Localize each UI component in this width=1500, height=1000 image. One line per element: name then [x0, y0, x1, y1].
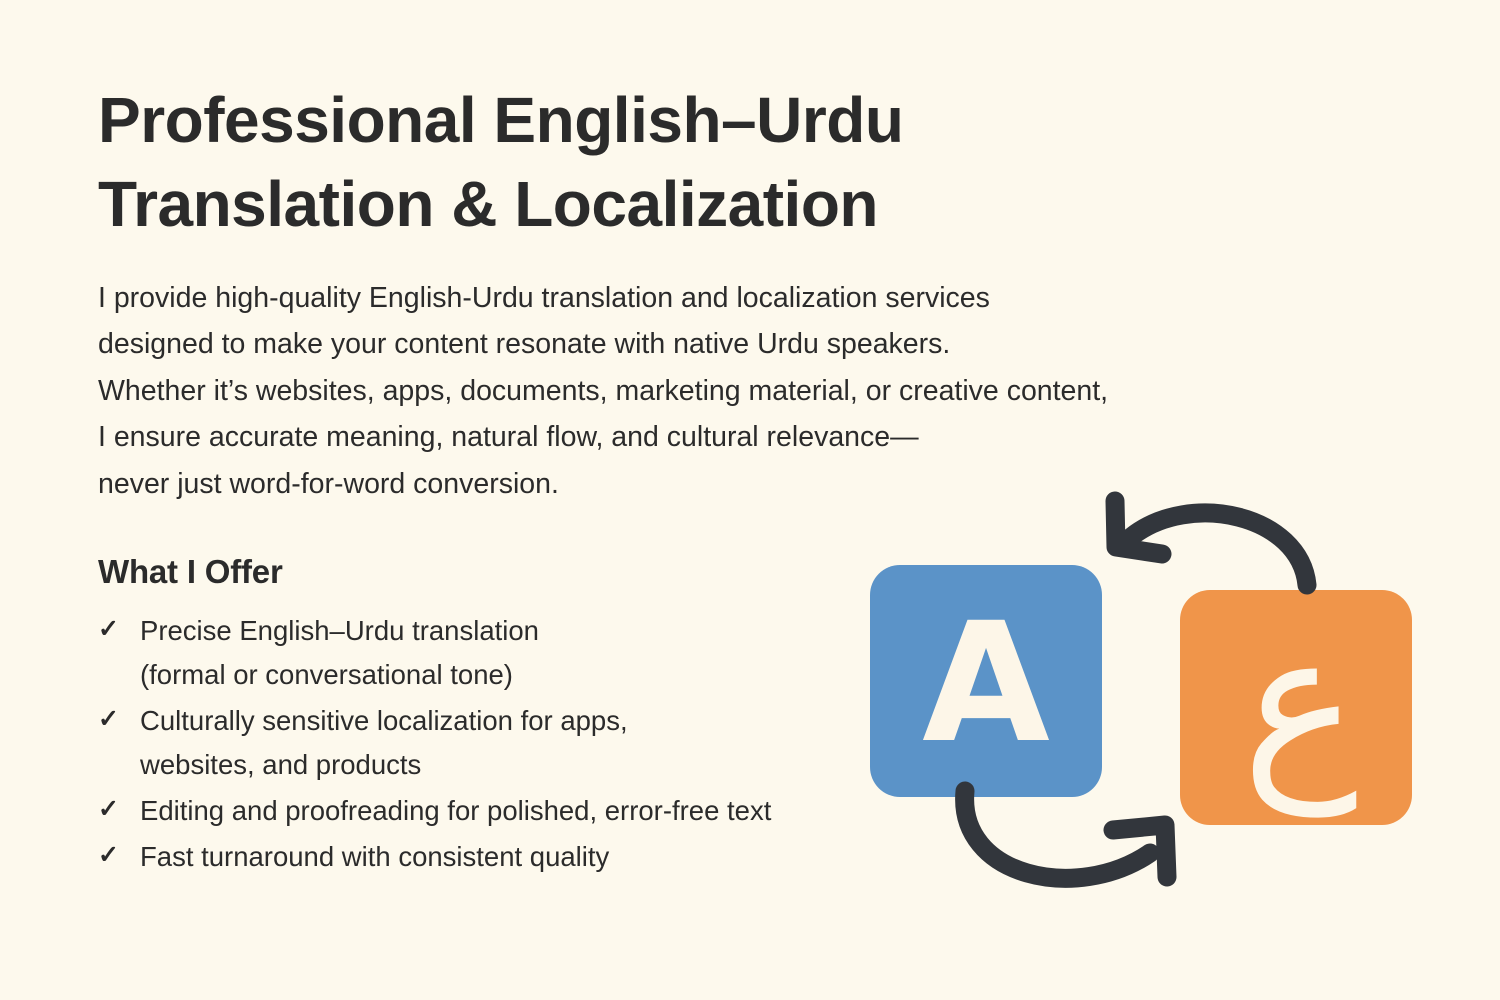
target-card-letter: ع: [1242, 589, 1358, 818]
check-icon: ✓: [98, 835, 140, 876]
intro-paragraph: I provide high-quality English-Urdu tran…: [98, 275, 1358, 507]
urdu-to-english-arrow: [1115, 501, 1307, 585]
intro-line-4: I ensure accurate meaning, natural flow,…: [98, 414, 1358, 460]
check-icon: ✓: [98, 699, 140, 740]
target-language-card: ع: [1180, 589, 1412, 825]
intro-line-1: I provide high-quality English-Urdu tran…: [98, 275, 1358, 321]
page-title-line-2: Translation & Localization: [98, 162, 1098, 246]
intro-line-2: designed to make your content resonate w…: [98, 321, 1358, 367]
source-language-card: A: [870, 565, 1102, 797]
page-title-line-1: Professional English–Urdu: [98, 78, 1098, 162]
page-title: Professional English–Urdu Translation & …: [98, 78, 1098, 247]
translation-illustration: A ع: [845, 485, 1465, 915]
check-icon: ✓: [98, 789, 140, 830]
check-icon: ✓: [98, 609, 140, 650]
intro-line-3: Whether it’s websites, apps, documents, …: [98, 368, 1358, 414]
source-card-letter: A: [922, 587, 1050, 779]
infographic-page: Professional English–Urdu Translation & …: [0, 0, 1500, 1000]
english-to-urdu-arrow: [965, 791, 1167, 878]
